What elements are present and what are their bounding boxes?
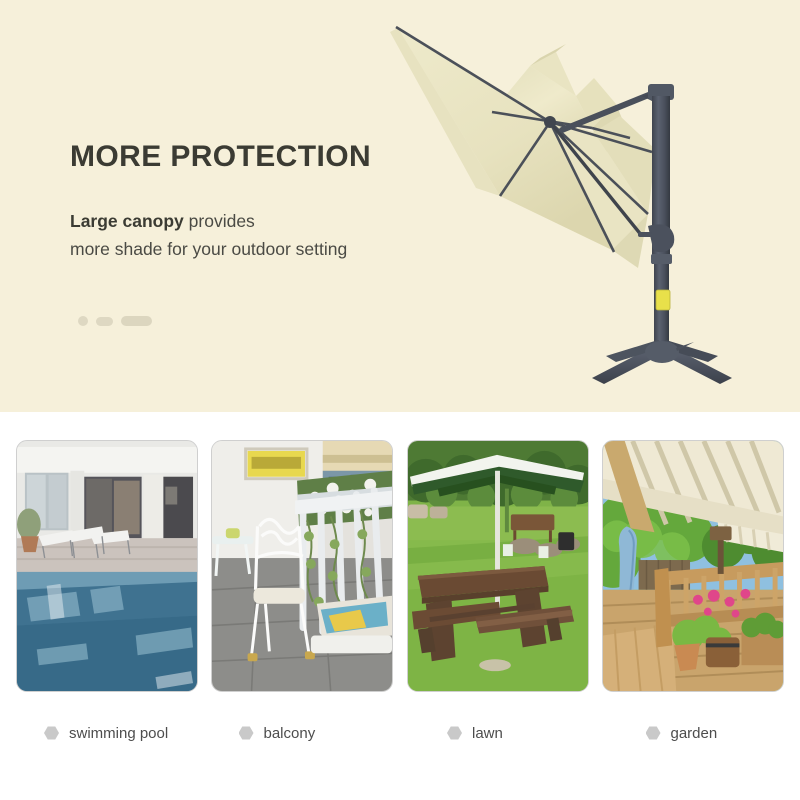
thumbnail-caption-row: swimming pool balcony lawn garden xyxy=(0,712,800,754)
caption-garden: garden xyxy=(596,712,785,754)
wooden-barrel-planter xyxy=(706,637,740,667)
hexagon-bullet-icon xyxy=(239,726,254,740)
swimming-pool-image xyxy=(17,441,197,691)
canopy-hub xyxy=(544,116,556,128)
hexagon-bullet-icon xyxy=(646,726,661,740)
lawn-image xyxy=(408,441,588,691)
caption-label: swimming pool xyxy=(69,725,168,742)
pagination-dot-1[interactable] xyxy=(78,316,88,326)
pagination-dot-3-active[interactable] xyxy=(121,316,152,326)
hexagon-bullet-icon xyxy=(44,726,59,740)
thumbnail-cell-balcony[interactable] xyxy=(211,440,393,710)
thumbnail-cell-garden[interactable] xyxy=(602,440,784,710)
pole-collar xyxy=(651,254,672,264)
caption-label: lawn xyxy=(472,725,503,742)
hero-subtitle-line-1: Large canopy provides xyxy=(70,207,470,235)
hero-copy: MORE PROTECTION Large canopy provides mo… xyxy=(70,140,470,264)
thumbnail-cell-swimming-pool[interactable] xyxy=(16,440,198,710)
hero-subtitle-rest: provides xyxy=(184,211,255,231)
hero-subtitle-line-2: more shade for your outdoor setting xyxy=(70,235,470,263)
umbrella-base xyxy=(592,340,732,384)
thumbnail-frame[interactable] xyxy=(16,440,198,692)
caption-label: garden xyxy=(671,725,718,742)
thumbnail-cell-lawn[interactable] xyxy=(407,440,589,710)
hexagon-bullet-icon xyxy=(447,726,462,740)
pagination-dot-2[interactable] xyxy=(96,317,113,326)
thumbnail-frame[interactable] xyxy=(211,440,393,692)
caption-label: balcony xyxy=(264,725,316,742)
balcony-image xyxy=(212,441,392,691)
scene-thumbnail-strip xyxy=(0,440,800,710)
hero-panel: MORE PROTECTION Large canopy provides mo… xyxy=(0,0,800,412)
caption-swimming-pool: swimming pool xyxy=(16,712,183,754)
thumbnail-frame[interactable] xyxy=(602,440,784,692)
caption-lawn: lawn xyxy=(387,712,586,754)
product-feature-page: MORE PROTECTION Large canopy provides mo… xyxy=(0,0,800,800)
carousel-pagination[interactable] xyxy=(78,316,152,326)
caption-balcony: balcony xyxy=(193,712,378,754)
thumbnail-frame[interactable] xyxy=(407,440,589,692)
page-title: MORE PROTECTION xyxy=(70,140,470,173)
hero-subtitle-emphasis: Large canopy xyxy=(70,211,184,231)
warning-label xyxy=(656,290,670,310)
garden-image xyxy=(603,441,783,691)
